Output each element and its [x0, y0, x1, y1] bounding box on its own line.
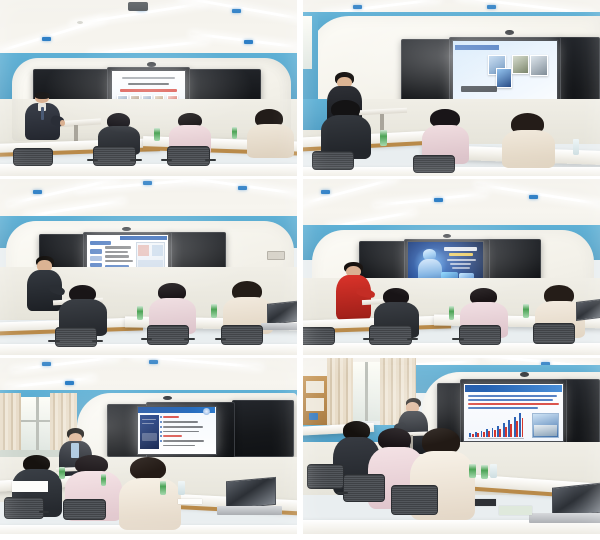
presentation-screen-6 [463, 383, 564, 443]
ceiling-projector [128, 2, 149, 11]
light-end-cap [434, 198, 443, 202]
side-window [303, 16, 312, 69]
necktie [41, 107, 44, 120]
water-bottle [490, 464, 497, 478]
paper-document [12, 481, 48, 492]
robot-head [423, 249, 436, 259]
light-end-cap [42, 37, 51, 41]
window-mullion [36, 397, 40, 450]
light-end-cap [529, 195, 538, 199]
water-bottle [469, 464, 476, 478]
classroom-scene-4 [303, 179, 600, 355]
office-chair [50, 327, 100, 355]
shelf-compartment [306, 381, 324, 393]
office-chair [217, 325, 267, 353]
classroom-scene-2 [303, 0, 600, 176]
office-chair [410, 155, 458, 176]
water-bottle [481, 465, 488, 479]
office-chair [309, 151, 357, 176]
light-end-cap [232, 9, 241, 13]
office-chair [89, 146, 139, 174]
school-emblem [203, 408, 210, 416]
collage-panel-5 [0, 358, 297, 534]
laptop [226, 477, 276, 510]
office-chair [339, 474, 389, 513]
light-end-cap [238, 186, 247, 190]
water-bottle [449, 306, 455, 320]
audience-member [247, 109, 295, 157]
presenter-hand [60, 120, 65, 125]
paper-document [178, 499, 202, 504]
audience-hair [130, 457, 166, 481]
light-end-cap [42, 362, 51, 366]
office-chair [303, 327, 339, 353]
wall-speaker [267, 251, 285, 260]
ceiling-microphone [122, 227, 131, 231]
light-end-cap [33, 190, 42, 194]
slide-header-bar [465, 385, 562, 393]
classroom-scene-3 [0, 179, 297, 355]
light-end-cap [65, 381, 74, 385]
window-mullion [365, 362, 368, 422]
water-bottle [211, 304, 217, 318]
collage-panel-2 [303, 0, 600, 176]
water-bottle [137, 306, 143, 320]
light-end-cap [143, 181, 152, 185]
collage-panel-3 [0, 179, 297, 355]
shelf-compartment [306, 398, 324, 410]
office-chair [0, 497, 48, 527]
slide-bulleted-list [138, 407, 216, 454]
water-bottle [160, 481, 166, 495]
light-end-cap [487, 5, 496, 9]
blackboard-right [564, 379, 600, 449]
laptop [576, 298, 600, 321]
audience-torso [247, 124, 295, 158]
classroom-scene-5 [0, 358, 297, 534]
collage-panel-1 [0, 0, 297, 176]
water-bottle [178, 481, 185, 495]
classroom-scene-6 [303, 358, 600, 534]
light-end-cap [321, 190, 330, 194]
blackboard-right [232, 400, 294, 456]
office-chair [9, 148, 57, 174]
office-chair [454, 325, 504, 353]
office-chair [529, 323, 579, 351]
water-bottle [523, 304, 529, 318]
water-bottle [232, 127, 237, 139]
bar-chart [468, 413, 523, 437]
presenter-hair [35, 92, 50, 99]
audience-member [321, 100, 371, 156]
audience-member [502, 113, 555, 166]
collage-panel-4 [303, 179, 600, 355]
light-end-cap [149, 360, 158, 364]
office-chair [163, 146, 213, 174]
light-end-cap [244, 40, 253, 44]
water-bottle [380, 130, 387, 146]
office-chair [143, 325, 193, 353]
audience-torso [119, 478, 181, 530]
collage-panel-6 [303, 358, 600, 534]
audience-member [119, 457, 181, 527]
slide-chart [464, 384, 563, 442]
water-bottle [101, 474, 106, 486]
audience-torso [502, 130, 555, 168]
laptop-keyboard [217, 506, 282, 515]
laptop-keyboard [529, 513, 600, 524]
water-bottle [154, 128, 159, 140]
photo-collage [0, 0, 600, 540]
light-end-cap [353, 5, 362, 9]
laptop [267, 300, 297, 325]
slide-header-bar [455, 45, 499, 50]
curtain [0, 393, 21, 456]
paper-document [499, 506, 532, 515]
office-chair [59, 499, 109, 529]
presenter-3 [27, 256, 63, 323]
shelf-item [309, 413, 318, 420]
classroom-scene-1 [0, 0, 297, 176]
ceiling-microphone [505, 30, 514, 35]
slide-header-bar [120, 236, 167, 240]
office-chair [365, 325, 415, 353]
water-bottle [59, 467, 64, 479]
office-chair [386, 485, 442, 527]
phone-on-desk [475, 499, 496, 506]
presentation-screen-5 [137, 406, 217, 455]
water-bottle [573, 139, 579, 155]
